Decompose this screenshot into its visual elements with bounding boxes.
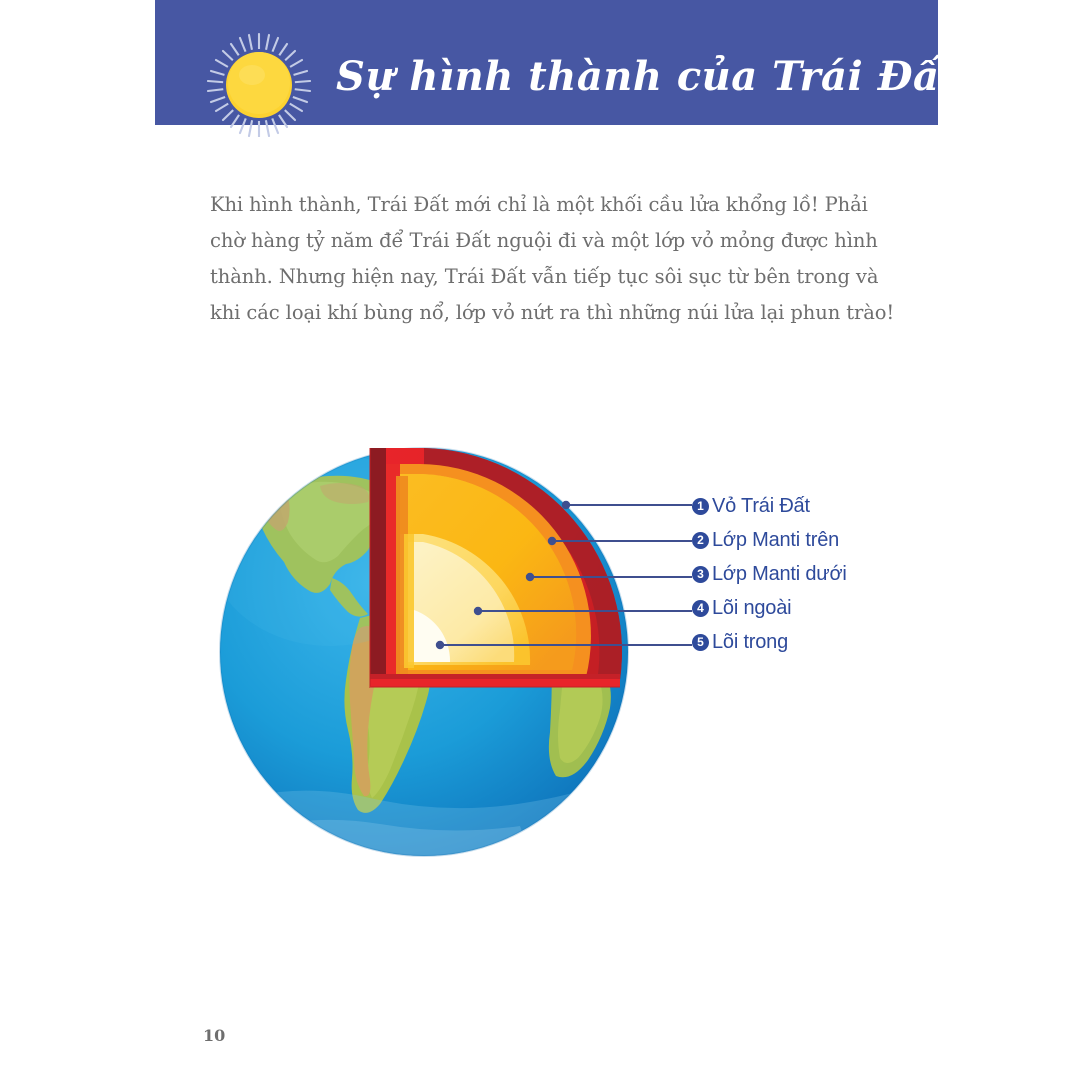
leader-dot-5 [437,642,443,648]
sun-icon [207,33,311,137]
legend-badge-1: 1 [692,498,709,515]
legend-label-outer-core: Lõi ngoài [712,597,791,620]
legend-badge-3: 3 [692,566,709,583]
legend-label-crust: Vỏ Trái Đất [712,495,810,518]
legend-item-inner-core[interactable]: 5 Lõi trong [692,625,952,659]
leader-dot-2 [549,538,555,544]
legend-badge-2: 2 [692,532,709,549]
page-number: 10 [203,1026,225,1045]
legend-badge-5: 5 [692,634,709,651]
leader-dot-3 [527,574,533,580]
legend-label-inner-core: Lõi trong [712,631,788,654]
intro-paragraph: Khi hình thành, Trái Đất mới chỉ là một … [210,187,900,331]
page-title: Sự hình thành của Trái Đất [336,44,896,114]
legend-label-upper-mantle: Lớp Manti trên [712,529,839,552]
legend-label-lower-mantle: Lớp Manti dưới [712,563,847,586]
earth-cutaway-wedge [370,448,628,692]
leader-dot-4 [475,608,481,614]
legend-item-crust[interactable]: 1 Vỏ Trái Đất [692,489,952,523]
leader-dot-1 [563,502,569,508]
legend-item-upper-mantle[interactable]: 2 Lớp Manti trên [692,523,952,557]
legend-badge-4: 4 [692,600,709,617]
legend-item-lower-mantle[interactable]: 3 Lớp Manti dưới [692,557,952,591]
legend-list: 1 Vỏ Trái Đất 2 Lớp Manti trên 3 Lớp Man… [692,489,952,659]
legend-item-outer-core[interactable]: 4 Lõi ngoài [692,591,952,625]
